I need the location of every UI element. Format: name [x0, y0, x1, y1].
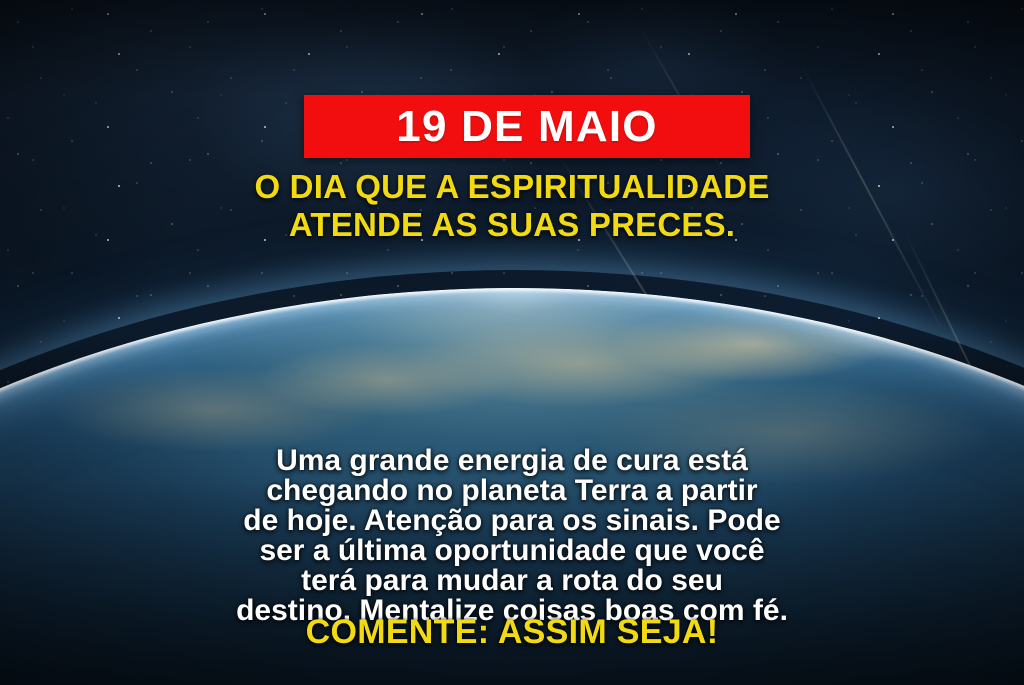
- body-line-5: terá para mudar a rota do seu: [62, 566, 962, 596]
- headline-line-2: ATENDE AS SUAS PRECES.: [62, 206, 962, 244]
- poster-canvas: 19 DE MAIO O DIA QUE A ESPIRITUALIDADE A…: [0, 0, 1024, 685]
- headline: O DIA QUE A ESPIRITUALIDADE ATENDE AS SU…: [62, 168, 962, 245]
- body-line-1: Uma grande energia de cura está: [62, 446, 962, 476]
- body-line-2: chegando no planeta Terra a partir: [62, 476, 962, 506]
- date-banner-text: 19 DE MAIO: [396, 105, 657, 149]
- headline-line-1: O DIA QUE A ESPIRITUALIDADE: [62, 168, 962, 206]
- date-banner: 19 DE MAIO: [304, 95, 750, 158]
- body-line-3: de hoje. Atenção para os sinais. Pode: [62, 506, 962, 536]
- content-layer: 19 DE MAIO O DIA QUE A ESPIRITUALIDADE A…: [0, 0, 1024, 685]
- body-paragraph: Uma grande energia de cura está chegando…: [62, 446, 962, 626]
- body-line-4: ser a última oportunidade que você: [62, 536, 962, 566]
- call-to-action-text: COMENTE: ASSIM SEJA!: [62, 614, 962, 651]
